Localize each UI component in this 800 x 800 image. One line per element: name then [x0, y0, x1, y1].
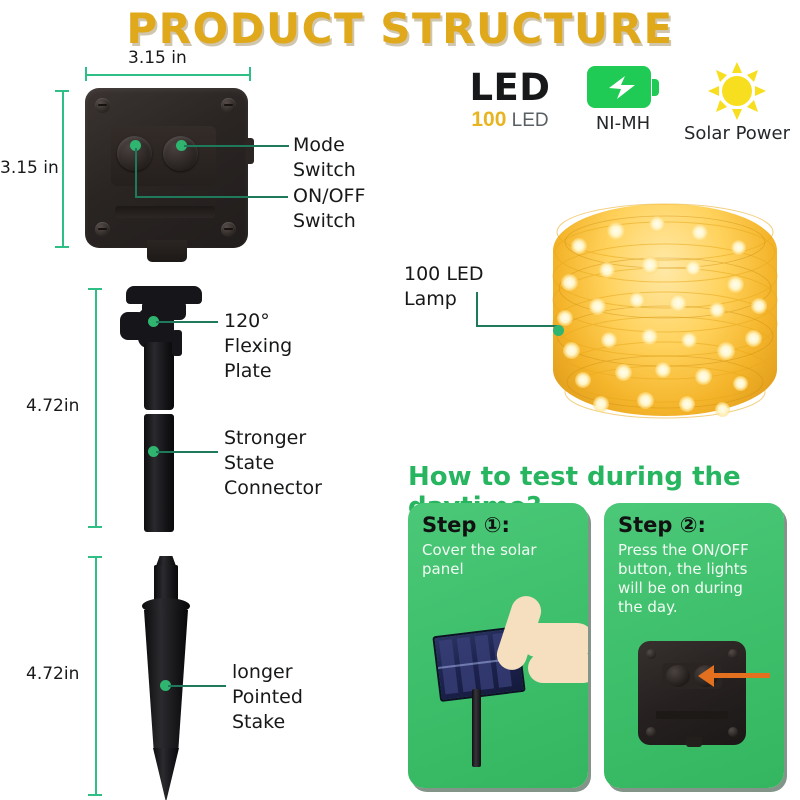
led-lamp-count: 100: [404, 263, 440, 285]
callout-onoff-switch-label: Mode Switch: [293, 133, 356, 183]
dimension-panel-height-label: 3.15 in: [0, 158, 59, 178]
spec-led-count: LED 100 LED: [455, 68, 565, 133]
spec-badges: LED 100 LED NI-MH: [455, 66, 795, 161]
led-count-value: 100: [471, 108, 506, 131]
step-2-label: Step ②:: [618, 513, 706, 537]
battery-label: NI-MH: [573, 112, 673, 136]
step-1-label: Step ①:: [422, 513, 510, 537]
step-card-2: Step ②: Press the ON/OFF button, the lig…: [604, 503, 784, 788]
step-card-1: Step ①: Cover the solar panel: [408, 503, 588, 788]
spec-solar: Solar Power: [677, 62, 797, 146]
step-1-text: Cover the solar panel: [422, 541, 580, 579]
page-title: PRODUCT STRUCTURE: [0, 4, 800, 53]
dimension-pole-height-label: 4.72in: [26, 396, 79, 416]
led-count-label: 100 LED: [455, 108, 565, 133]
solar-label: Solar Power: [677, 122, 797, 146]
callout-stake-label: longer Pointed Stake: [232, 660, 303, 735]
led-string-coil-image: [545, 190, 785, 430]
spec-battery: NI-MH: [573, 66, 673, 136]
callout-connector-label: Stronger State Connector: [224, 426, 322, 501]
callout-flexing-plate-label: 120° Flexing Plate: [224, 309, 292, 384]
led-text-icon: LED: [455, 68, 565, 108]
battery-icon: [587, 66, 659, 108]
sun-icon: [706, 62, 768, 120]
stake-image: [130, 556, 210, 800]
dimension-stake-height-label: 4.72in: [26, 664, 79, 684]
callout-mode-switch-label: ON/OFF Switch: [293, 184, 365, 234]
infographic-canvas: PRODUCT STRUCTURE LED 100 LED NI-MH: [0, 0, 800, 800]
dimension-panel-width-label: 3.15 in: [128, 48, 187, 68]
step-2-text: Press the ON/OFF button, the lights will…: [618, 541, 776, 617]
led-count-unit: LED: [512, 110, 549, 131]
callout-led-lamp-label: 100 LED Lamp: [404, 262, 484, 312]
solar-panel-back-image: [85, 88, 248, 248]
